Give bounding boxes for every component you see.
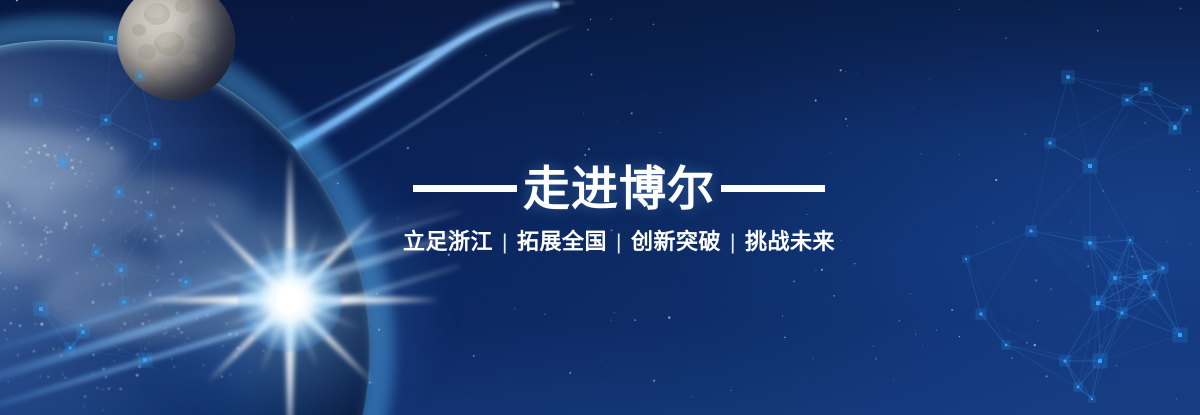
title-dash-left-icon — [413, 185, 517, 192]
subtitle-item: 拓展全国 — [517, 231, 607, 253]
hero-banner: 走进博尔 立足浙江|拓展全国|创新突破|挑战未来 — [0, 0, 1200, 415]
network-plexus-right — [940, 0, 1200, 415]
flare-core — [238, 248, 342, 352]
subtitle-item: 创新突破 — [631, 231, 721, 253]
subtitle-item: 立足浙江 — [403, 231, 493, 253]
banner-subtitle: 立足浙江|拓展全国|创新突破|挑战未来 — [399, 231, 839, 253]
subtitle-separator: | — [502, 232, 508, 253]
title-dash-right-icon — [721, 185, 825, 192]
subtitle-item: 挑战未来 — [745, 231, 835, 253]
title-row: 走进博尔 — [399, 160, 839, 216]
page-title: 走进博尔 — [523, 165, 715, 212]
banner-text-block: 走进博尔 立足浙江|拓展全国|创新突破|挑战未来 — [399, 160, 839, 253]
subtitle-separator: | — [616, 232, 622, 253]
subtitle-separator: | — [730, 232, 736, 253]
